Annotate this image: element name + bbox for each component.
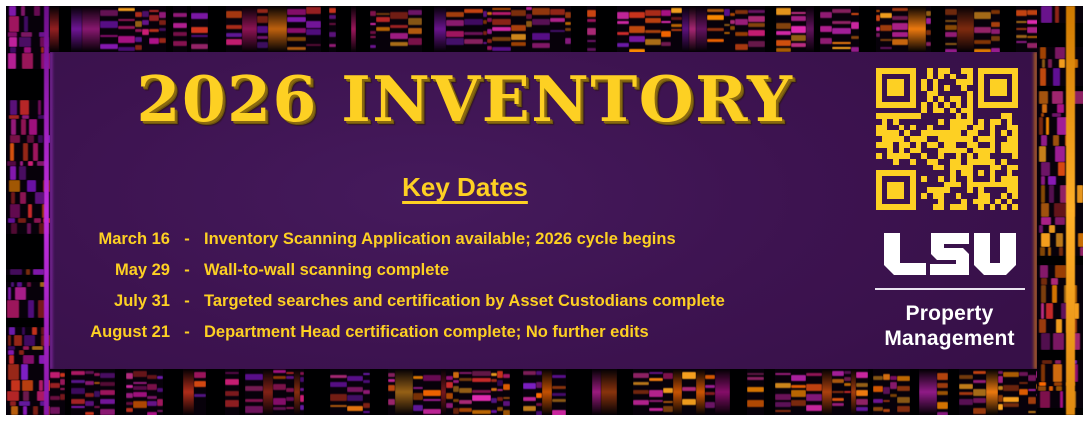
gel-band [552,399,566,403]
gel-band [19,37,30,47]
gel-band [464,19,483,26]
gel-band [413,393,423,400]
qr-code-icon[interactable] [876,68,1018,210]
gel-band [532,43,550,49]
gel-band [27,135,33,143]
gel-lane [991,6,1000,52]
gel-glow [268,6,287,52]
gel-band [791,16,806,21]
gel-band [9,327,16,335]
gel-lane [492,6,511,52]
gel-glow [957,6,974,52]
gel-band [1054,203,1066,217]
gel-lane [735,6,748,52]
gel-band [883,409,890,412]
gel-band [633,400,649,405]
inventory-banner: 2026 INVENTORY Key Dates March 16 - Inve… [0,0,1089,421]
gel-band [376,27,390,31]
gel-lane [1019,369,1028,415]
gel-band [71,406,85,409]
gel-band [27,223,32,234]
gel-band [39,380,43,391]
gel-band [1059,247,1063,256]
gel-band [747,377,764,380]
gel-lane [747,369,764,415]
gel-band [1053,135,1059,146]
gel-band [159,12,166,19]
gel-band [492,8,511,10]
gel-band [1055,217,1065,225]
gel-band [135,12,142,18]
gel-lane [1037,47,1083,59]
gel-band [1041,233,1051,247]
gel-band [273,376,286,379]
gel-lane [1037,350,1083,360]
gel-band [329,23,336,25]
gel-band [287,17,306,22]
gel-lane [206,369,218,415]
gel-band [32,327,38,335]
gel-lane [986,369,998,415]
gel-lane [1037,319,1083,333]
gel-lane [147,369,157,415]
gel-band [147,396,157,399]
gel-band [71,388,85,395]
gel-lane [624,369,633,415]
gel-band [287,9,306,15]
gel-band [11,119,16,135]
gel-band [388,399,395,406]
gel-band [408,10,422,15]
gel-band [892,23,908,29]
gel-band [9,16,19,32]
gel-lane [765,6,776,52]
gel-band [959,375,973,380]
gel-band [617,32,629,35]
gel-lane [159,6,166,52]
gel-lane [859,6,876,52]
gel-lane [226,6,242,52]
gel-band [991,10,1000,14]
gel-band [388,379,395,381]
gel-band [661,10,671,16]
gel-band [21,364,28,380]
gel-lane [974,6,991,52]
gel-band [363,390,370,394]
gel-band [532,19,550,25]
gel-band [775,410,791,413]
gel-lane [1037,185,1083,203]
gel-glow [986,369,998,415]
gel-band [363,403,370,408]
gel-band [1055,6,1059,23]
gel-band [1053,68,1060,86]
gel-band [1041,203,1049,217]
gel-band [735,10,748,14]
gel-band [1041,135,1047,146]
gel-band [945,43,957,45]
gel-band [100,35,118,38]
gel-lane [937,369,948,415]
gel-band [503,401,510,406]
gel-band [24,16,28,32]
gel-band [33,143,39,161]
gel-band [1003,385,1019,391]
gel-band [330,382,347,387]
gel-lane [832,6,851,52]
gel-band [7,300,19,318]
gel-lane [321,6,329,52]
gel-band [587,19,596,23]
gel-band [22,380,33,391]
gel-glow [263,369,273,415]
gel-lane [273,369,286,415]
gel-band [149,38,159,44]
gel-band [85,381,94,385]
gel-band [844,383,851,386]
gel-band [776,31,791,34]
gel-band [147,375,157,380]
gel-band [100,390,115,395]
gel-lane [571,6,587,52]
gel-lane [715,369,730,415]
gel-band [8,287,11,300]
gel-band [1041,6,1053,23]
gel-lane [191,6,208,52]
gel-band [306,44,321,47]
gel-band [550,9,565,15]
gel-band [11,406,19,415]
gel-band [707,39,724,43]
gel-glow [71,6,82,52]
gel-band [472,371,491,376]
gel-lane [1037,117,1083,135]
gel-lane [617,369,624,415]
gel-lane [689,6,696,52]
gel-band [523,406,536,411]
gel-band [552,375,566,378]
gel-band [1039,225,1043,233]
gel-lane [775,369,791,415]
list-item: March 16 - Inventory Scanning Applicatio… [50,224,880,255]
gel-band [226,33,242,37]
gel-band [9,6,16,16]
gel-band [459,408,472,413]
gel-band [273,398,286,404]
gel-lane [897,369,910,415]
gel-band [85,401,94,406]
gel-band [390,42,408,46]
gel-band [974,12,991,18]
gel-band [503,374,510,378]
gel-band [671,8,682,14]
gel-band [832,371,844,376]
gel-glow [696,6,707,52]
gel-band [806,394,822,401]
gel-band [330,394,347,400]
date-label: July 31 [50,286,170,317]
gel-band [645,18,661,23]
gel-band [85,412,94,415]
gel-band [883,400,890,402]
gel-lane [388,369,395,415]
gel-lane [671,6,682,52]
gel-band [147,384,157,389]
gel-band [23,391,29,401]
gel-band [587,28,596,35]
gel-band [100,399,115,403]
gel-band [1053,364,1062,382]
gel-band [1040,265,1049,278]
gel-band [306,7,321,14]
gel-band [133,392,147,397]
gel-lane [957,6,974,52]
gel-band [892,32,908,36]
gel-lane [542,369,552,415]
gel-band [806,405,822,412]
gel-band [330,375,347,377]
gel-glow [689,6,696,52]
gel-band [844,377,851,381]
gel-band [511,34,526,41]
gel-band [287,37,306,41]
gel-lane [856,369,868,415]
gel-band [748,41,765,47]
gel-band [446,393,453,399]
gel-lane [1037,285,1083,303]
gel-lane [1037,364,1083,382]
gel-band [883,387,890,394]
gel-band [991,22,1000,27]
gel-band [873,407,883,411]
lsu-wordmark-icon [883,232,1017,275]
gel-band [1059,59,1065,68]
gel-band [1040,391,1050,408]
gel-band [511,42,526,46]
gel-band [550,30,565,32]
gel-lane [844,369,851,415]
gel-band [791,12,806,15]
gel-band [1042,104,1048,113]
gel-lane [832,369,844,415]
gel-lane [959,369,973,415]
gel-lane [571,369,586,415]
gel-band [503,410,510,415]
gel-lane [115,369,126,415]
gel-band [100,373,115,378]
gel-band [472,378,491,382]
gel-band [682,387,696,391]
gel-band [29,119,36,135]
gel-band [991,29,1000,34]
gel-lane [973,369,986,415]
gel-band [649,372,663,374]
gel-band [142,20,149,26]
gel-band [873,386,883,393]
gel-band [991,36,1000,41]
gel-lane [242,6,257,52]
gel-band [1016,21,1027,24]
gel-lane [1037,135,1083,146]
gel-lane [764,369,775,415]
gel-lane [873,369,883,415]
gel-band [748,30,765,36]
gel-band [1040,47,1046,59]
gel-lane [173,6,187,52]
gel-lane [464,6,483,52]
gel-lane [1037,6,1083,23]
gel-band [880,13,892,19]
gel-band [226,11,242,18]
gel-band [347,406,363,411]
gel-band [149,15,159,21]
gel-band [492,12,511,15]
gel-band [645,30,661,32]
gel-lane [948,369,959,415]
gel-band [1041,278,1047,285]
gel-lane [523,369,536,415]
gel-band [257,16,268,23]
gel-lane [776,6,791,52]
gel-glow [592,369,601,415]
gel-lane [908,6,926,52]
gel-lane [163,369,173,415]
gel-band [1039,319,1047,333]
gel-band [7,391,19,401]
gel-band [191,13,208,19]
gel-band [633,390,649,395]
gel-lane [329,6,336,52]
gel-band [22,327,26,335]
gel-lane [1037,303,1083,319]
gel-lane [511,6,526,52]
gel-band [851,13,859,15]
gel-band [892,16,908,20]
gel-band [1058,162,1065,176]
gel-lane [1005,6,1016,52]
gel-band [1019,389,1028,395]
gel-band [225,379,239,385]
gel-lane [1037,59,1083,68]
gel-band [705,375,715,379]
gel-band [38,135,44,143]
gel-band [748,23,765,27]
gel-band [945,25,957,30]
gel-lane [413,369,423,415]
gel-band [663,388,673,394]
gel-glow [242,6,257,52]
gel-band [1077,185,1083,203]
date-label: May 29 [50,255,170,286]
gel-band [118,8,135,12]
gel-band [413,376,423,380]
gel-band [629,36,645,42]
gel-band [791,400,806,406]
gel-band [776,40,791,47]
gel-lane [532,6,550,52]
gel-lane [696,6,707,52]
gel-band [135,45,142,49]
gel-lane [645,6,661,52]
gel-lane [663,369,673,415]
gel-band [126,373,133,379]
gel-band [832,47,851,49]
gel-band [832,42,851,44]
gel-band [50,396,60,400]
gel-band [937,402,948,409]
gel-band [492,37,511,42]
gel-lane [1037,146,1083,162]
gel-band [173,13,187,17]
gel-band [587,48,596,51]
gel-band [226,39,242,45]
gel-band [747,373,764,375]
gel-accent-stripe-left [44,6,49,415]
gel-glow [822,369,832,415]
gel-border-top [6,6,1083,52]
gel-lane [883,369,890,415]
gel-glow [395,369,413,415]
gel-band [832,379,844,382]
gel-band [306,21,321,27]
gel-lane [890,369,897,415]
gel-band [24,335,35,346]
logo-line-1: Property [868,301,1031,326]
gel-lane [135,6,142,52]
gel-band [873,376,883,381]
gel-band [1041,162,1050,176]
gel-band [464,32,483,35]
gel-band [34,6,41,16]
gel-band [1056,233,1063,247]
gel-border-left [6,6,50,415]
gel-band [408,28,422,34]
gel-lane [459,369,472,415]
gel-lane [605,6,617,52]
gel-glow [434,6,446,52]
gel-band [118,36,135,43]
gel-band [1080,247,1083,256]
gel-band [20,100,30,115]
gel-band [791,35,806,41]
gel-lane [587,6,596,52]
gel-band [159,28,166,31]
gel-band [532,33,550,40]
gel-lane [1037,247,1083,256]
gel-band [27,180,36,192]
gel-band [649,400,663,402]
gel-lane [1037,265,1083,278]
gel-band [126,393,133,398]
gel-lane [1037,91,1083,104]
gel-lane [880,6,892,52]
gel-lane [1037,408,1083,415]
gel-band [1039,91,1048,104]
gel-band [194,381,206,387]
gel-band [133,382,147,385]
gel-lane [142,6,149,52]
lsu-property-management-logo: Property Management [868,232,1031,351]
gel-band [28,300,33,318]
gel-lane [82,6,100,52]
gel-band [8,364,19,380]
gel-band [245,386,263,391]
gel-band [376,13,390,15]
gel-band [663,373,673,379]
gel-band [844,371,851,374]
gel-band [446,20,464,26]
gel-lane [286,369,294,415]
